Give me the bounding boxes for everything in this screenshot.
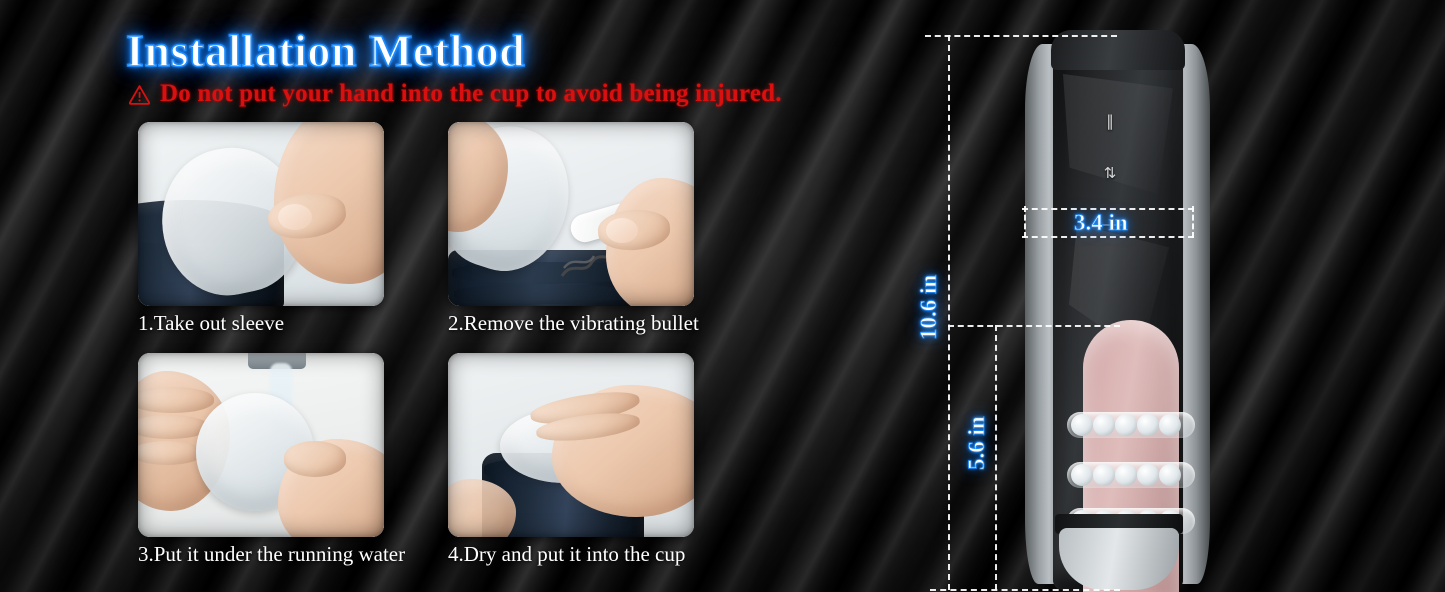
guide-line-top	[925, 35, 1117, 37]
width-dimension-label: 3.4 in	[1074, 210, 1128, 236]
guide-line-insertable-left	[995, 325, 997, 590]
step-1-photo	[138, 122, 384, 306]
warning-banner: Do not put your hand into the cup to avo…	[128, 80, 782, 108]
thrust-mode-button-glyph: ⇅	[1104, 164, 1117, 182]
device-base-cap	[1059, 528, 1179, 590]
thrust-mode-button[interactable]: ⇅	[1087, 158, 1133, 188]
bead-row-2	[1067, 462, 1195, 488]
step-3: 3.Put it under the running water	[138, 353, 408, 565]
guide-line-width-left-tick	[1024, 206, 1026, 238]
step-1-caption: 1.Take out sleeve	[138, 312, 408, 334]
insertable-length-dimension-label: 5.6 in	[964, 416, 990, 470]
pause-button[interactable]: ‖	[1087, 106, 1133, 136]
step-3-photo	[138, 353, 384, 537]
bead-row-1	[1067, 412, 1195, 438]
infographic-canvas: Installation Method Do not put your hand…	[0, 0, 1445, 592]
guide-line-bottom	[930, 589, 1120, 591]
guide-line-height-left	[948, 35, 950, 590]
warning-text: Do not put your hand into the cup to avo…	[160, 80, 782, 108]
pause-button-glyph: ‖	[1106, 112, 1114, 130]
step-4-caption: 4.Dry and put it into the cup	[448, 543, 718, 565]
step-4: 4.Dry and put it into the cup	[448, 353, 718, 565]
step-2: 2.Remove the vibrating bullet	[448, 122, 718, 334]
warning-triangle-icon	[128, 84, 151, 105]
step-1: 1.Take out sleeve	[138, 122, 408, 334]
step-4-photo	[448, 353, 694, 537]
product-illustration: ‖ ⇅ ⸺	[1005, 24, 1225, 592]
guide-line-insertable-top	[948, 325, 1120, 327]
step-2-caption: 2.Remove the vibrating bullet	[448, 312, 718, 334]
guide-line-width-bottom	[1022, 236, 1194, 238]
guide-line-width-right-tick	[1192, 206, 1194, 238]
page-title: Installation Method	[126, 24, 525, 77]
device-body: ‖ ⇅ ⸺	[1025, 30, 1210, 590]
step-3-caption: 3.Put it under the running water	[138, 543, 408, 565]
total-height-dimension-label: 10.6 in	[916, 275, 942, 340]
step-2-photo	[448, 122, 694, 306]
